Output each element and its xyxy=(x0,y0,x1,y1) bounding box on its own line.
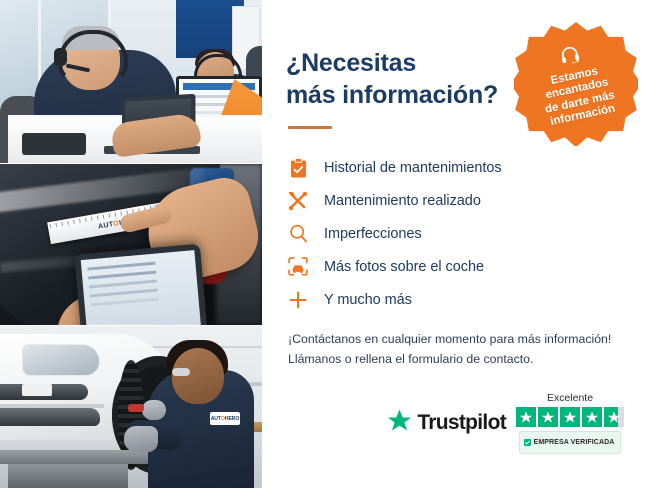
title-divider xyxy=(288,126,332,129)
headline-line-1: ¿Necesitas xyxy=(286,49,416,77)
trustpilot-logo[interactable]: Trustpilot xyxy=(387,409,506,438)
inspection-tablet xyxy=(74,244,208,325)
star-filled xyxy=(582,407,602,427)
plus-icon xyxy=(286,289,310,311)
headlight xyxy=(22,344,100,376)
feature-list: Historial de mantenimientos Mantenimient… xyxy=(286,151,622,316)
feature-label: Imperfecciones xyxy=(324,226,422,242)
uniform-logo: AUTOHERO xyxy=(210,412,240,425)
support-badge: Estamos encantados de darte más informac… xyxy=(514,22,638,146)
magnifier-icon xyxy=(286,223,310,245)
safety-glasses-icon xyxy=(172,368,190,376)
mechanic-glove xyxy=(124,426,158,452)
badge-text: Estamos encantados de darte más informac… xyxy=(522,59,635,133)
feature-label: Mantenimiento realizado xyxy=(324,193,481,209)
headset-icon xyxy=(558,44,582,71)
star-filled xyxy=(538,407,558,427)
mechanic-tire-photo: AUTOHERO xyxy=(0,326,262,488)
feature-label: Historial de mantenimientos xyxy=(324,160,502,176)
trustpilot-star-icon xyxy=(387,409,412,438)
list-item: Más fotos sobre el coche xyxy=(286,250,622,283)
clipboard-check-icon xyxy=(286,157,310,179)
star-filled xyxy=(560,407,580,427)
star-partial xyxy=(604,407,624,427)
verified-label: EMPRESA VERIFICADA xyxy=(534,439,615,446)
headset-earcup xyxy=(54,48,67,66)
headline-line-2: más información? xyxy=(286,81,498,109)
feature-label: Y mucho más xyxy=(324,292,412,308)
main-agent-headset-icon xyxy=(58,30,128,82)
tablet-screen xyxy=(81,250,202,325)
list-item: Historial de mantenimientos xyxy=(286,151,622,184)
badge-content: Estamos encantados de darte más informac… xyxy=(502,10,649,157)
contact-line-2: Llámanos o rellena el formulario de cont… xyxy=(288,350,622,370)
list-item: Y mucho más xyxy=(286,283,622,316)
content-panel: ¿Necesitas más información? Estamos en xyxy=(262,0,650,488)
contact-line-1: ¡Contáctanos en cualquier momento para m… xyxy=(288,330,622,350)
photo-column: AUTOHERO xyxy=(0,0,262,488)
mechanic-head xyxy=(172,348,224,404)
hand-tool xyxy=(128,404,144,412)
star-filled xyxy=(516,407,536,427)
list-item: Imperfecciones xyxy=(286,217,622,250)
car-inspection-ruler-photo: AUTOHERO xyxy=(0,164,262,325)
star-rating xyxy=(516,407,624,427)
page-title: ¿Necesitas más información? xyxy=(286,48,526,111)
mechanic-glove-upper xyxy=(142,400,166,420)
trustpilot-rating: Excelente xyxy=(516,392,624,454)
trustpilot-wordmark: Trustpilot xyxy=(417,411,506,435)
lower-grille xyxy=(0,408,100,426)
verified-check-icon xyxy=(524,433,531,451)
trustpilot-widget[interactable]: Trustpilot Excelente xyxy=(387,392,624,454)
desk-tablet xyxy=(22,133,86,155)
list-item: Mantenimiento realizado xyxy=(286,184,622,217)
verified-badge: EMPRESA VERIFICADA xyxy=(519,431,622,454)
tools-icon xyxy=(286,190,310,212)
car-lift-arm xyxy=(0,450,150,464)
car-lift-base xyxy=(8,464,128,488)
license-plate xyxy=(22,384,52,396)
feature-label: Más fotos sobre el coche xyxy=(324,259,484,275)
rating-label: Excelente xyxy=(516,392,624,404)
call-center-agents-photo xyxy=(0,0,262,163)
contact-text: ¡Contáctanos en cualquier momento para m… xyxy=(288,330,622,370)
car-scan-icon xyxy=(286,256,310,278)
promo-card: AUTOHERO xyxy=(0,0,650,488)
